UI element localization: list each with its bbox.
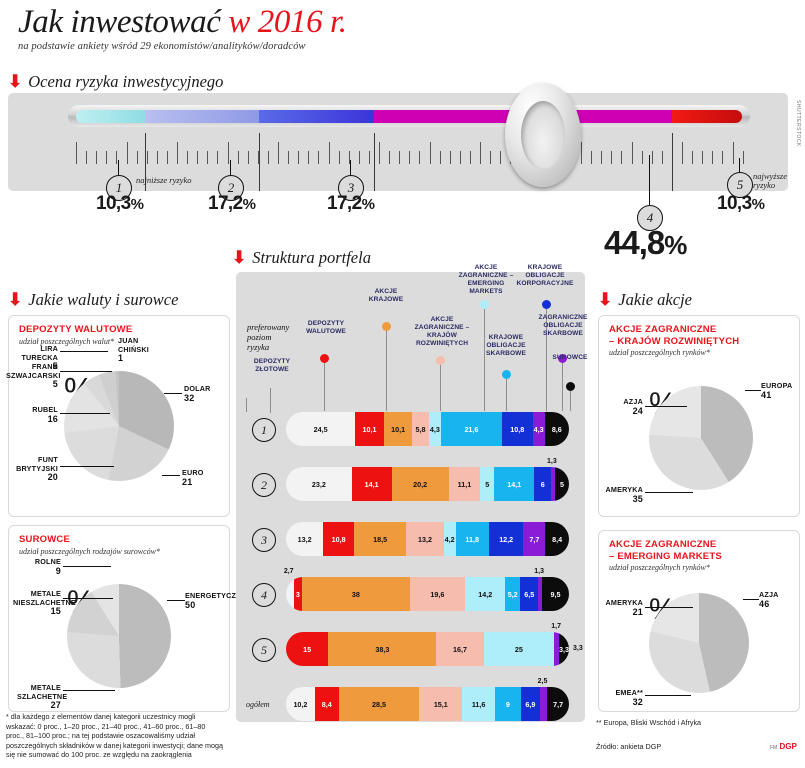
photo-credit: SHUTTERSTOCK — [795, 100, 801, 147]
bar-segment-external-label: 1,3 — [547, 458, 557, 465]
bar-segment[interactable]: 10,1 — [355, 412, 384, 446]
down-arrow-icon: ⬇ — [598, 293, 612, 307]
bar-segment[interactable]: 4,3 — [533, 412, 545, 446]
bar-segment[interactable]: 38 — [302, 577, 410, 611]
risk-level-label: najniższe ryzyko — [136, 176, 191, 185]
donut-leader-line — [645, 695, 691, 696]
table-row: 24,510,110,15,84,321,610,84,38,6 — [286, 412, 569, 446]
donut-slice-label: RUBEL16 — [14, 406, 58, 423]
donut-leader-line — [645, 607, 693, 608]
bar-segment[interactable]: 10,8 — [502, 412, 533, 446]
donut-slice-label: AZJA46 — [759, 591, 779, 608]
card-developed-markets: AKCJE ZAGRANICZNE – KRAJÓW ROZWINIĘTYCH … — [598, 315, 800, 517]
bar-segment[interactable]: 9,5 — [542, 577, 569, 611]
gauge-divider — [374, 133, 375, 191]
bar-segment[interactable]: 5,2 — [505, 577, 520, 611]
gauge-knob[interactable] — [505, 83, 581, 187]
bar-row-number[interactable]: 3 — [252, 528, 276, 552]
gauge-divider — [672, 133, 673, 191]
table-row: 23,214,120,211,1514,165 — [286, 467, 569, 501]
bar-segment[interactable]: 13,2 — [286, 522, 323, 556]
legend-dot — [480, 300, 489, 309]
title-black: Jak inwestować — [18, 4, 220, 40]
donut-leader-line — [60, 371, 112, 372]
legend-stem — [246, 398, 247, 412]
bar-row-number[interactable]: 2 — [252, 473, 276, 497]
bar-segment[interactable] — [286, 577, 294, 611]
bar-segment[interactable]: 10,2 — [286, 687, 315, 721]
bar-segment[interactable]: 8,6 — [545, 412, 569, 446]
card-emerging-title-1: AKCJE ZAGRANICZNE — [609, 539, 722, 551]
card-developed-subtitle: udział poszczególnych rynków* — [609, 348, 739, 357]
bar-segment[interactable]: 21,6 — [441, 412, 502, 446]
footnote-emea: ** Europa, Bliski Wschód i Afryka — [596, 718, 701, 727]
legend-dot — [382, 322, 391, 331]
legend-label: ZAGRANICZNE OBLIGACJE SKARBOWE — [536, 314, 590, 338]
bar-segment[interactable]: 23,2 — [286, 467, 352, 501]
legend-stem — [484, 309, 485, 411]
donut-leader-line — [60, 351, 108, 352]
donut-slice-label: EUROPA41 — [761, 382, 792, 399]
gauge-color-bar — [76, 110, 742, 123]
legend-label: SUROWCE — [548, 354, 592, 362]
bar-segment[interactable]: 19,6 — [410, 577, 465, 611]
risk-level-percent: 10,3% — [96, 193, 143, 215]
card-commodities: SUROWCE udział poszczególnych rodzajów s… — [8, 525, 230, 712]
bar-segment[interactable]: 5,8 — [412, 412, 428, 446]
card-developed-title-1: AKCJE ZAGRANICZNE — [609, 324, 739, 336]
bar-segment-external-label: 2,7 — [284, 568, 294, 575]
risk-level-stem — [350, 160, 351, 175]
donut-leader-line — [745, 390, 761, 391]
legend-label: DEPOZYTY ZŁOTOWE — [244, 358, 300, 374]
donut-slice-label: EMEA**32 — [605, 689, 643, 706]
card-emerging-markets: AKCJE ZAGRANICZNE – EMERGING MARKETS udz… — [598, 530, 800, 712]
legend-stem — [570, 391, 571, 411]
section-heading-currencies-label: Jakie waluty i surowce — [28, 290, 178, 310]
donut-leader-line — [60, 413, 110, 414]
legend-label: AKCJE KRAJOWE — [360, 288, 412, 304]
section-heading-currencies: ⬇ Jakie waluty i surowce — [8, 290, 178, 310]
bar-segment[interactable]: 5 — [555, 467, 569, 501]
donut-slice-label: JUANCHIŃSKI1 — [118, 337, 149, 363]
section-heading-stocks-label: Jakie akcje — [618, 290, 692, 310]
bar-segment[interactable]: 16,7 — [436, 632, 483, 666]
down-arrow-icon: ⬇ — [232, 251, 246, 265]
bar-segment[interactable]: 6,9 — [521, 687, 541, 721]
bar-segment[interactable]: 9 — [495, 687, 521, 721]
bar-segment[interactable]: 14,2 — [465, 577, 505, 611]
risk-level-stem — [649, 155, 650, 205]
donut-leader-line — [162, 475, 180, 476]
donut-leader-line — [63, 690, 115, 691]
card-developed-title-2: – KRAJÓW ROZWINIĘTYCH — [609, 336, 739, 348]
bar-segment[interactable]: 4,2 — [444, 522, 456, 556]
donut-slice-label: METALENIESZLACHETNE15 — [13, 590, 61, 616]
bar-segment[interactable]: 24,5 — [286, 412, 355, 446]
bar-segment[interactable]: 20,2 — [392, 467, 449, 501]
title-red: w 2016 r. — [228, 4, 346, 40]
donut-slice-label: FUNTBRYTYJSKI20 — [12, 456, 58, 482]
bar-segment[interactable]: 8,4 — [315, 687, 339, 721]
section-heading-risk: ⬇ Ocena ryzyka inwestycyjnego — [8, 72, 223, 92]
donut-leader-line — [645, 406, 687, 407]
donut-ring — [649, 593, 749, 693]
legend-stem — [324, 363, 325, 411]
donut-slice-label: ROLNE9 — [19, 558, 61, 575]
logo-mark: FM — [770, 745, 777, 751]
donut-ring — [64, 371, 174, 481]
legend-stem — [562, 363, 563, 411]
table-row: 33819,614,25,26,59,5 — [286, 577, 569, 611]
risk-level-stem — [739, 158, 740, 172]
legend-label: AKCJE ZAGRANICZNE – EMERGING MARKETS — [458, 264, 514, 296]
bar-segment-external-label: 1,3 — [534, 568, 544, 575]
bar-segment[interactable] — [540, 687, 547, 721]
bar-segment[interactable]: 10,1 — [384, 412, 413, 446]
section-heading-stocks: ⬇ Jakie akcje — [598, 290, 692, 310]
table-row: 10,28,428,515,111,696,97,7 — [286, 687, 569, 721]
bar-segment[interactable]: 14,1 — [494, 467, 534, 501]
donut-leader-line — [60, 466, 114, 467]
legend-stem — [506, 379, 507, 411]
donut-leader-line — [63, 598, 113, 599]
donut-slice-label: DOLAR32 — [184, 385, 211, 402]
donut-slice-label: AZJA24 — [609, 398, 643, 415]
risk-level-percent: 10,3% — [717, 193, 764, 215]
bar-segment[interactable]: 12,2 — [489, 522, 524, 556]
donut-leader-line — [645, 492, 693, 493]
bar-segment[interactable]: 13,2 — [406, 522, 443, 556]
donut-slice-label: LIRATURECKA5 — [10, 345, 58, 371]
legend-stem — [440, 365, 441, 411]
footnote-main: * dla każdego z elementów danej kategori… — [6, 712, 224, 760]
legend-stem — [386, 331, 387, 411]
bar-segment[interactable]: 6 — [534, 467, 551, 501]
gauge-segment — [76, 110, 145, 123]
bar-row-label: ogółem — [246, 700, 270, 709]
page-title: Jak inwestować w 2016 r. — [18, 4, 788, 40]
page-header: Jak inwestować w 2016 r. na podstawie an… — [18, 4, 788, 52]
donut-deposits: % — [64, 371, 174, 481]
bar-segment[interactable]: 5 — [480, 467, 494, 501]
donut-leader-line — [167, 600, 185, 601]
gauge-tick — [743, 151, 744, 164]
bar-segment[interactable]: 25 — [484, 632, 555, 666]
risk-level-percent: 17,2% — [208, 193, 255, 215]
down-arrow-icon: ⬇ — [8, 75, 22, 89]
donut-slice-label: AMERYKA21 — [597, 599, 643, 616]
bar-segment[interactable]: 14,1 — [352, 467, 392, 501]
risk-level-percent: 17,2% — [327, 193, 374, 215]
donut-ring — [649, 386, 753, 490]
card-emerging-subtitle: udział poszczególnych rynków* — [609, 563, 722, 572]
bar-segment[interactable]: 8,4 — [545, 522, 569, 556]
donut-leader-line — [120, 355, 121, 356]
legend-label: KRAJOWE OBLIGACJE KORPORACYJNE — [514, 264, 576, 288]
bar-segment[interactable]: 7,7 — [547, 687, 569, 721]
gauge-segment — [672, 110, 742, 123]
section-heading-risk-label: Ocena ryzyka inwestycyjnego — [28, 72, 223, 92]
donut-slice-label: METALESZLACHETNE27 — [17, 684, 61, 710]
card-commodities-subtitle: udział poszczególnych rodzajów surowców* — [19, 547, 160, 556]
card-deposits: DEPOZYTY WALUTOWE udział poszczególnych … — [8, 315, 230, 517]
donut-commodities: % — [67, 584, 171, 688]
donut-leader-line — [63, 566, 111, 567]
card-commodities-title: SUROWCE — [19, 534, 160, 546]
gauge-segment — [374, 110, 521, 123]
bar-segment[interactable]: 3 — [294, 577, 302, 611]
risk-level-percent: 44,8% — [604, 224, 686, 262]
legend-dot — [436, 356, 445, 365]
donut-ring — [67, 584, 171, 688]
bar-segment[interactable]: 3,3 — [559, 632, 569, 666]
donut-leader-line — [164, 393, 182, 394]
logo-text: DGP — [779, 742, 796, 751]
card-emerging-title-2: – EMERGING MARKETS — [609, 551, 722, 563]
bar-segment[interactable]: 15,1 — [419, 687, 462, 721]
gauge-divider — [259, 133, 260, 191]
gauge-segment — [259, 110, 374, 123]
risk-level-stem — [230, 160, 231, 175]
bar-segment[interactable]: 11,8 — [456, 522, 489, 556]
donut-developed: % — [649, 386, 753, 490]
donut-leader-line — [743, 599, 759, 600]
card-deposits-title: DEPOZYTY WALUTOWE — [19, 324, 132, 336]
bar-segment[interactable]: 7,7 — [523, 522, 545, 556]
bar-segment[interactable]: 15 — [286, 632, 328, 666]
gauge-segment — [145, 110, 260, 123]
bar-segment[interactable]: 28,5 — [339, 687, 420, 721]
legend-dot — [320, 354, 329, 363]
bar-segment-external-label: 3,3 — [573, 645, 583, 652]
bar-segment[interactable]: 6,5 — [520, 577, 538, 611]
risk-level-label: najwyższe ryzyko — [753, 172, 799, 190]
bar-segment[interactable]: 38,3 — [328, 632, 436, 666]
publisher-logo: FM DGP — [770, 742, 797, 751]
bar-row-number[interactable]: 1 — [252, 418, 276, 442]
table-row: 13,210,818,513,24,211,812,27,78,4 — [286, 522, 569, 556]
table-row: 1538,316,7253,3 — [286, 632, 569, 666]
legend-label: AKCJE ZAGRANICZNE – KRAJÓW ROZWINIĘTYCH — [414, 316, 470, 348]
legend-dot — [566, 382, 575, 391]
donut-emerging: % — [649, 593, 749, 693]
bar-segment-external-label: 2,5 — [538, 678, 548, 685]
legend-dot — [542, 300, 551, 309]
legend-dot — [502, 370, 511, 379]
bar-segment[interactable]: 10,8 — [323, 522, 354, 556]
down-arrow-icon: ⬇ — [8, 293, 22, 307]
bar-segment[interactable]: 18,5 — [354, 522, 406, 556]
page-subtitle: na podstawie ankiety wśród 29 ekonomistó… — [18, 41, 788, 52]
legend-stem — [270, 388, 271, 413]
legend-label: DEPOZYTY WALUTOWE — [298, 320, 354, 336]
risk-level-stem — [118, 160, 119, 175]
section-heading-structure-label: Struktura portfela — [252, 248, 371, 268]
section-heading-structure: ⬇ Struktura portfela — [232, 248, 371, 268]
donut-slice-label: AMERYKA35 — [601, 486, 643, 503]
bar-row-number[interactable]: 4 — [252, 583, 276, 607]
bar-segment-external-label: 1,7 — [551, 623, 561, 630]
source-note: Źródło: ankieta DGP — [596, 742, 661, 751]
bar-segment[interactable]: 11,1 — [449, 467, 480, 501]
bar-segment[interactable]: 4,3 — [429, 412, 441, 446]
preferred-risk-label: preferowanypoziomryzyka — [247, 322, 289, 352]
bar-segment[interactable]: 11,6 — [462, 687, 495, 721]
bar-row-number[interactable]: 5 — [252, 638, 276, 662]
legend-label: KRAJOWE OBLIGACJE SKARBOWE — [482, 334, 530, 358]
donut-slice-label: EURO21 — [182, 469, 204, 486]
